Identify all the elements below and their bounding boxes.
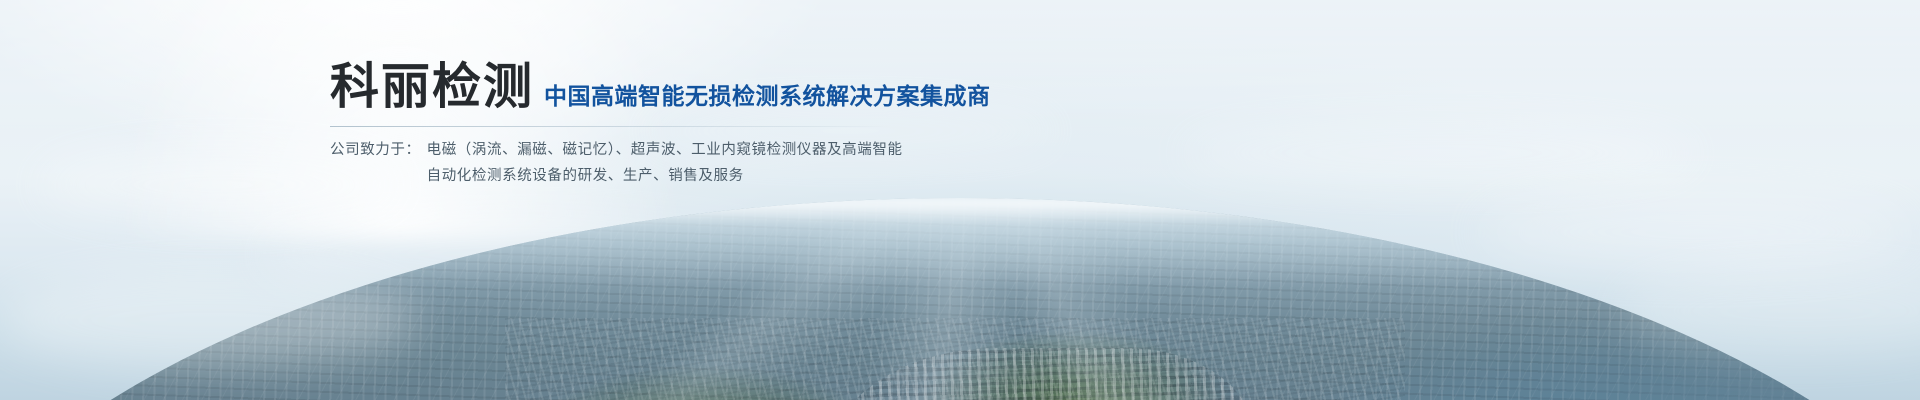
banner-text-block: 科丽检测 中国高端智能无损检测系统解决方案集成商 公司致力于： 电磁（涡流、漏磁… — [330, 62, 1230, 189]
company-description: 公司致力于： 电磁（涡流、漏磁、磁记忆）、超声波、工业内窥镜检测仪器及高端智能 … — [330, 138, 1230, 189]
hero-banner: 科丽检测 中国高端智能无损检测系统解决方案集成商 公司致力于： 电磁（涡流、漏磁… — [0, 0, 1920, 400]
waterfront — [1315, 318, 1920, 400]
brand-slogan: 中国高端智能无损检测系统解决方案集成商 — [544, 85, 991, 113]
title-divider — [330, 126, 890, 127]
description-line: 自动化检测系统设备的研发、生产、销售及服务 — [427, 164, 903, 189]
description-lines: 电磁（涡流、漏磁、磁记忆）、超声波、工业内窥镜检测仪器及高端智能 自动化检测系统… — [427, 138, 903, 189]
brand-title: 科丽检测 — [330, 62, 534, 113]
title-row: 科丽检测 中国高端智能无损检测系统解决方案集成商 — [330, 62, 1230, 113]
horizon-rim-light — [0, 198, 1920, 224]
description-line: 电磁（涡流、漏磁、磁记忆）、超声波、工业内窥镜检测仪器及高端智能 — [427, 138, 903, 163]
description-label: 公司致力于： — [330, 138, 427, 163]
curved-horizon-landmass — [0, 198, 1920, 400]
